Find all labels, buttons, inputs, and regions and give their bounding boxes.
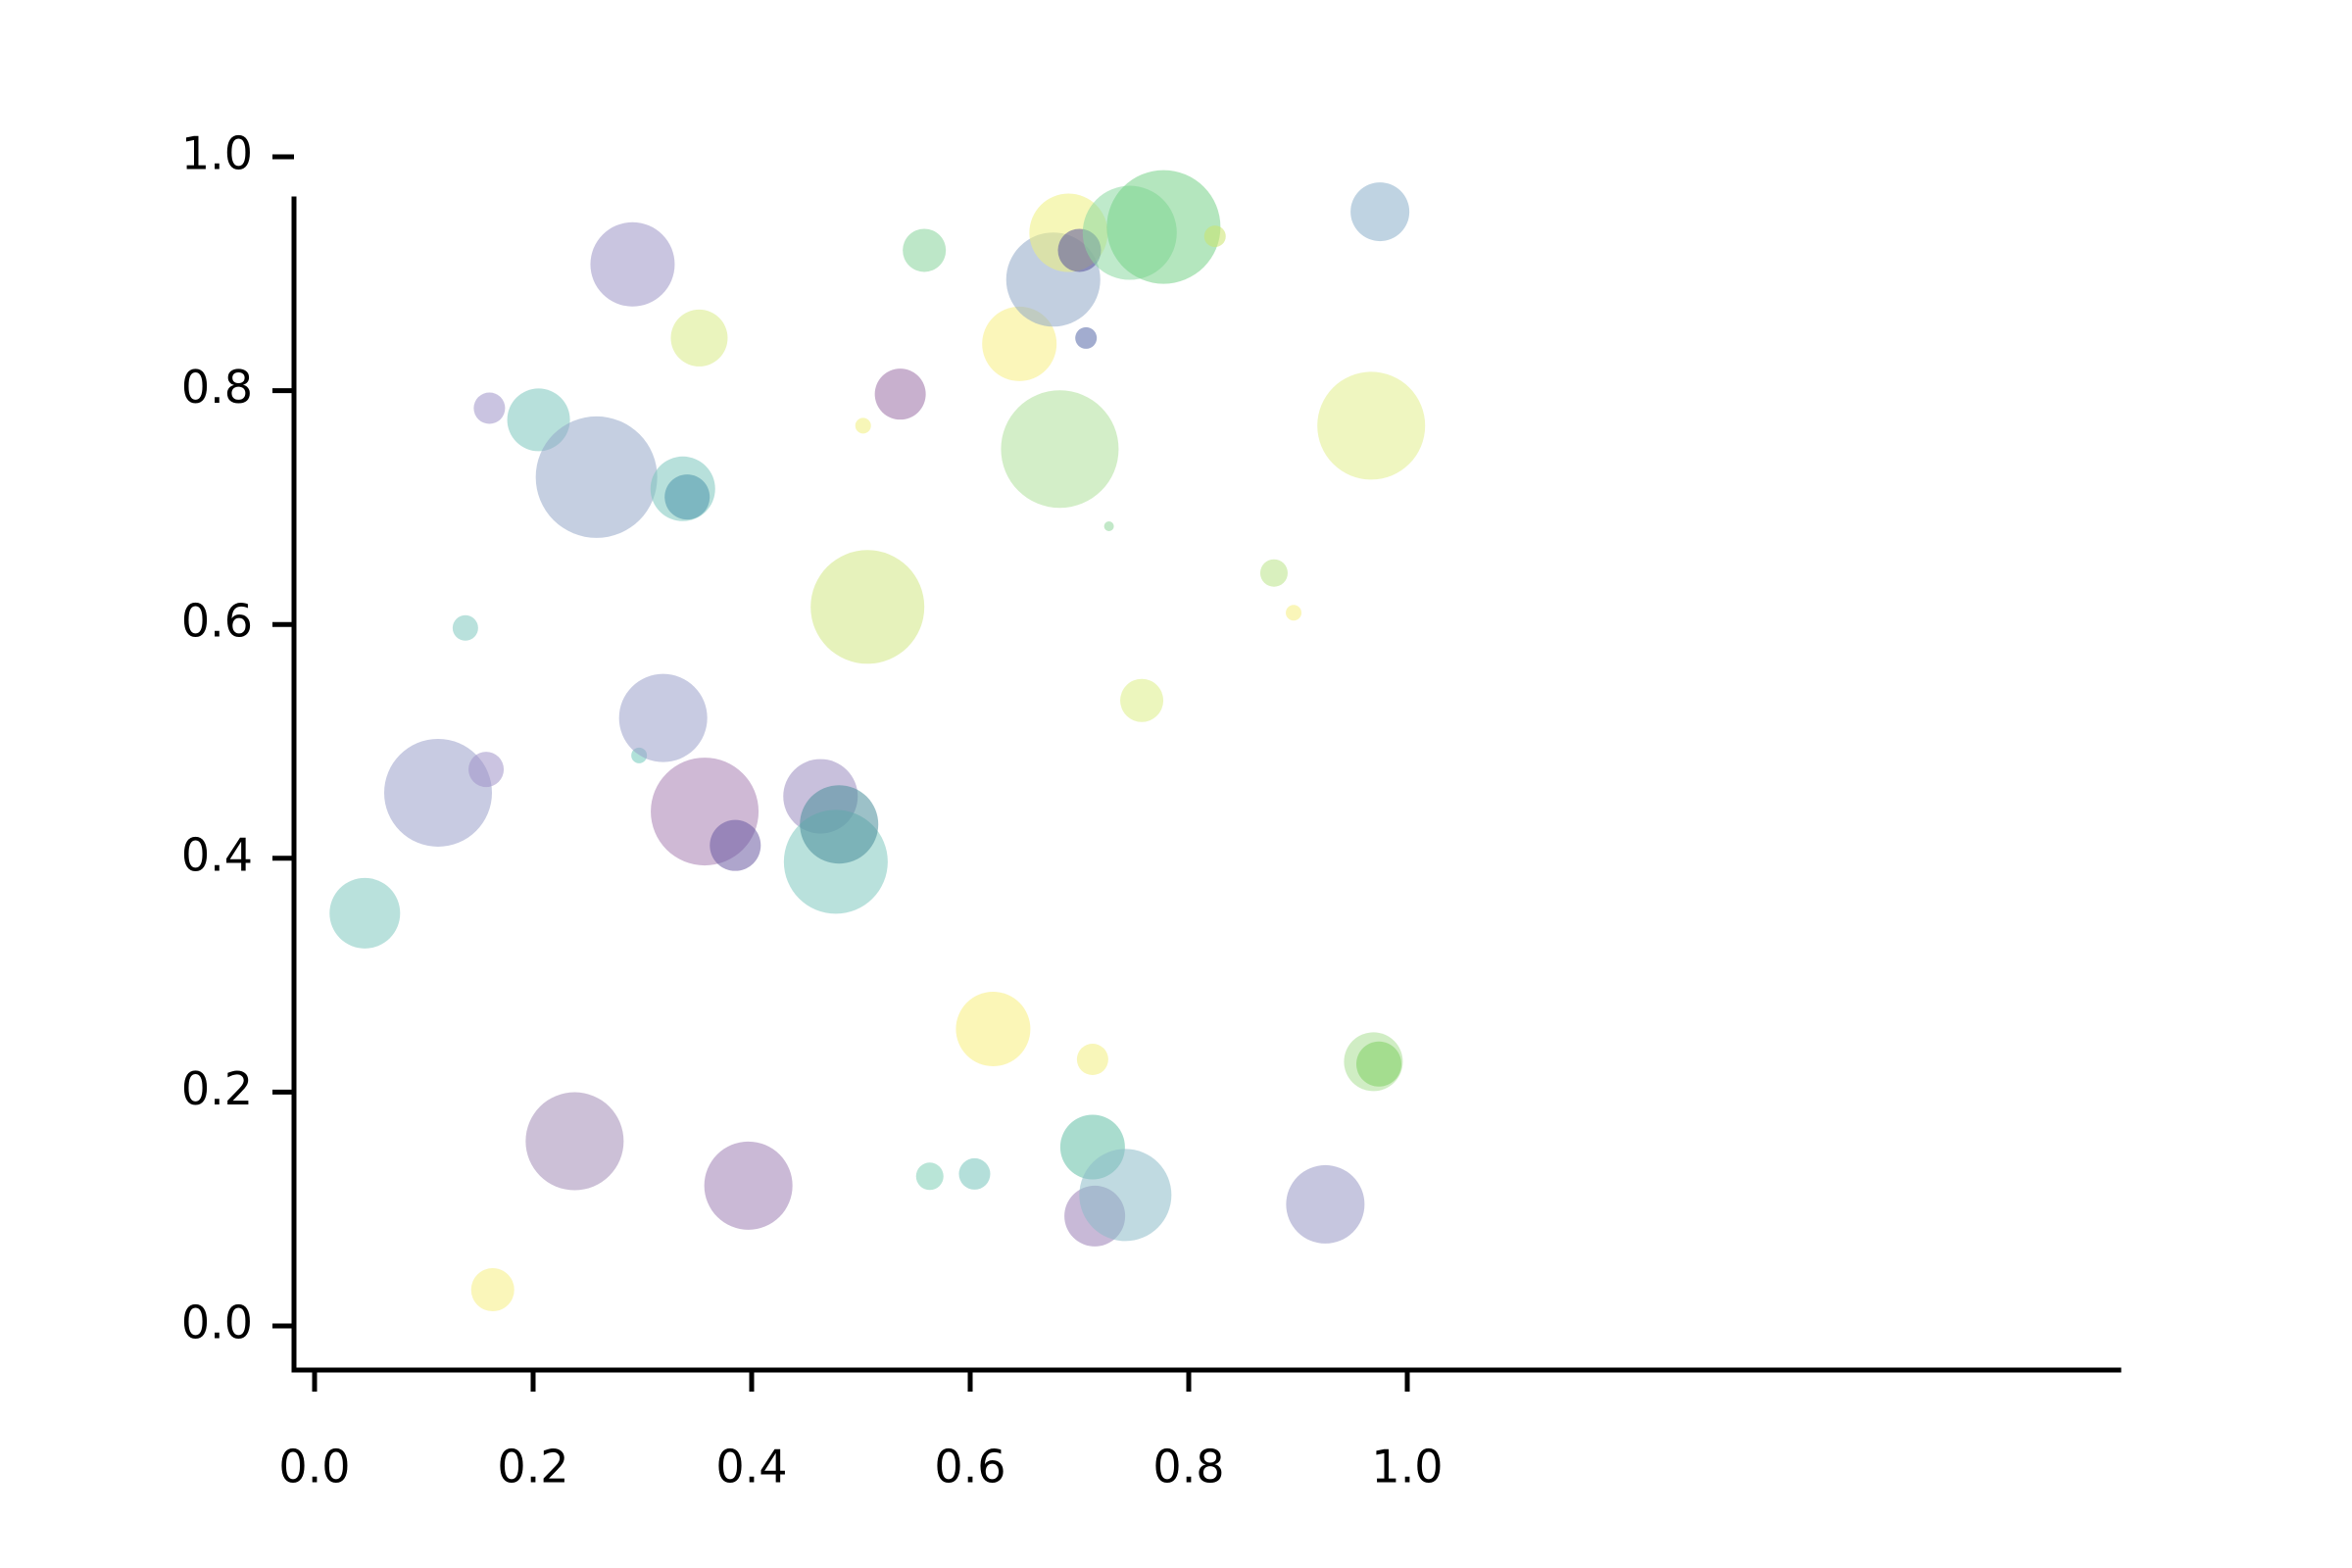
y-tick-label: 0.0 bbox=[181, 1297, 253, 1349]
figure-canvas: 0.00.20.40.60.81.0 0.00.20.40.60.81.0 bbox=[0, 0, 2352, 1568]
x-axis-ticks: 0.00.20.40.60.81.0 bbox=[278, 1370, 1443, 1493]
scatter-point bbox=[473, 393, 505, 424]
scatter-point bbox=[955, 992, 1030, 1066]
scatter-point bbox=[710, 820, 760, 871]
x-tick-label: 1.0 bbox=[1371, 1440, 1443, 1493]
scatter-plot: 0.00.20.40.60.81.0 0.00.20.40.60.81.0 bbox=[0, 0, 2352, 1568]
x-tick-label: 0.6 bbox=[934, 1440, 1005, 1493]
scatter-point bbox=[1077, 1044, 1108, 1075]
y-tick-label: 0.4 bbox=[181, 828, 253, 881]
scatter-point bbox=[468, 752, 504, 787]
scatter-point bbox=[1075, 327, 1097, 349]
y-tick-label: 0.8 bbox=[181, 361, 253, 414]
scatter-point bbox=[916, 1162, 944, 1190]
scatter-point bbox=[958, 1158, 990, 1190]
scatter-point bbox=[590, 222, 674, 307]
scatter-point bbox=[525, 1093, 623, 1191]
scatter-point bbox=[1120, 679, 1163, 722]
axis-spines bbox=[294, 199, 2119, 1370]
scatter-point bbox=[875, 368, 926, 419]
scatter-point bbox=[664, 474, 710, 519]
scatter-point bbox=[1317, 371, 1425, 479]
scatter-point bbox=[810, 550, 924, 663]
scatter-point bbox=[453, 615, 478, 641]
bubble-series bbox=[329, 171, 1425, 1311]
scatter-point bbox=[670, 310, 727, 367]
scatter-point bbox=[856, 417, 871, 433]
x-tick-label: 0.4 bbox=[715, 1440, 787, 1493]
scatter-point bbox=[1001, 390, 1118, 508]
scatter-point bbox=[1350, 182, 1409, 241]
scatter-point bbox=[619, 674, 708, 762]
scatter-point bbox=[1286, 1165, 1364, 1244]
scatter-point bbox=[800, 785, 878, 863]
y-tick-label: 0.2 bbox=[181, 1062, 253, 1115]
y-tick-label: 1.0 bbox=[181, 127, 253, 180]
scatter-point bbox=[705, 1142, 793, 1230]
x-tick-label: 0.8 bbox=[1152, 1440, 1224, 1493]
scatter-point bbox=[1106, 171, 1220, 284]
scatter-point bbox=[903, 228, 946, 271]
scatter-point bbox=[1104, 521, 1114, 531]
y-tick-label: 0.6 bbox=[181, 595, 253, 648]
scatter-point bbox=[1079, 1149, 1171, 1241]
x-tick-label: 0.0 bbox=[278, 1440, 350, 1493]
scatter-point bbox=[384, 739, 492, 847]
scatter-point bbox=[1204, 225, 1226, 247]
scatter-point bbox=[1356, 1042, 1401, 1087]
scatter-point bbox=[1260, 560, 1288, 587]
scatter-point bbox=[536, 416, 658, 538]
x-tick-label: 0.2 bbox=[497, 1440, 568, 1493]
y-axis-ticks: 0.00.20.40.60.81.0 bbox=[181, 127, 294, 1349]
scatter-point bbox=[1286, 605, 1301, 620]
scatter-point bbox=[329, 878, 400, 949]
scatter-point bbox=[471, 1268, 514, 1311]
